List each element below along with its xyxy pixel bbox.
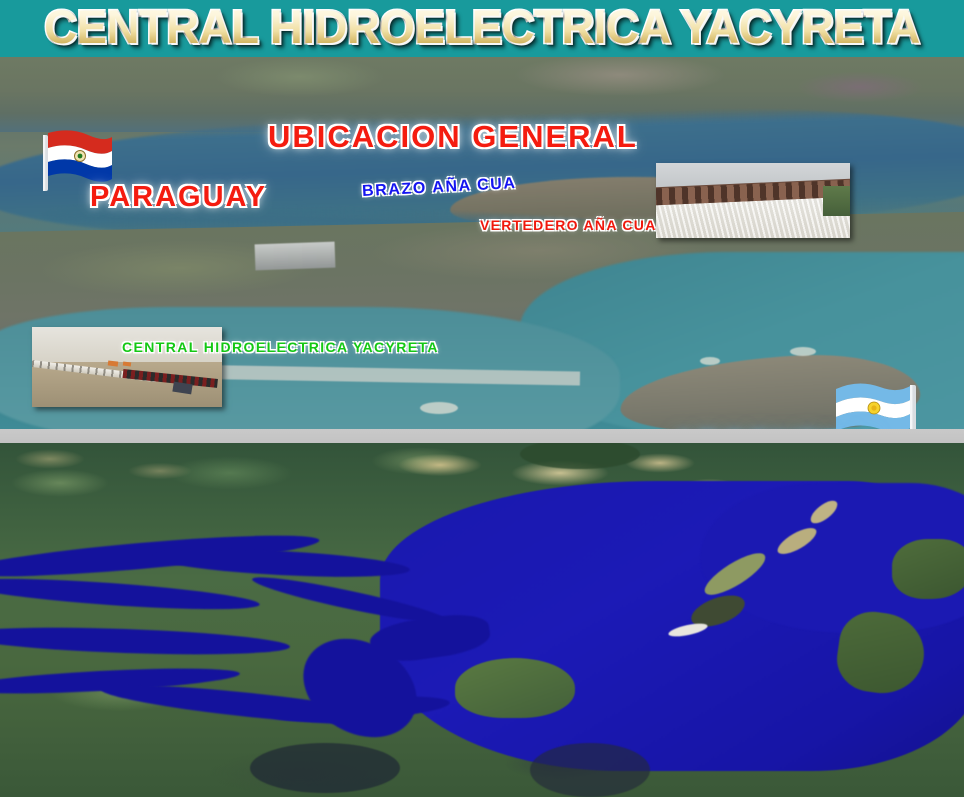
argentina-flag	[832, 377, 928, 429]
section-title-ubicacion-general: UBICACION GENERAL	[268, 119, 638, 155]
reservoir-east-shore	[892, 539, 964, 599]
label-central-hidroelectrica-yacyreta: CENTRAL HIDROELECTRICA YACYRETA	[122, 339, 439, 355]
upper-map-speck	[790, 347, 816, 356]
upper-map-structures	[255, 242, 336, 271]
label-paraguay: PARAGUAY	[90, 181, 267, 214]
lower-map-shadow	[250, 743, 400, 793]
section-divider	[0, 429, 964, 443]
spillway-photo-inset	[656, 163, 850, 238]
upper-satellite-map: UBICACION GENERAL PARAGUAY BRAZO AÑA CUA…	[0, 57, 964, 429]
lower-satellite-map: LO PRIMERO: COMO SE DISTRIBUYE EL AGUA	[0, 443, 964, 797]
title-banner: CENTRAL HIDROELECTRICA YACYRETA CENTRAL …	[0, 0, 964, 57]
page-title: CENTRAL HIDROELECTRICA YACYRETA	[14, 0, 949, 55]
upper-map-speck	[700, 357, 720, 365]
photo-right-bank	[823, 186, 850, 216]
photo-crane	[108, 360, 118, 366]
upper-map-speck	[420, 402, 458, 414]
label-vertedero-ana-cua: VERTEDERO AÑA CUA	[480, 217, 657, 233]
lower-map-shadow	[530, 743, 650, 797]
poster-root: CENTRAL HIDROELECTRICA YACYRETA CENTRAL …	[0, 0, 964, 797]
reservoir-south-shore	[455, 658, 575, 718]
lower-map-northwest-fields	[0, 443, 260, 503]
